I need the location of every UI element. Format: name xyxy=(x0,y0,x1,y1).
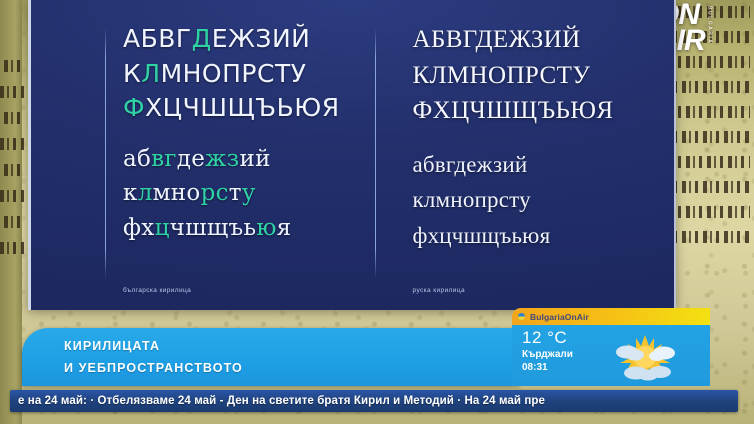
lower-third-banner: КИРИЛИЦАТА И УЕБПРОСТРАНСТВОТО xyxy=(22,328,520,386)
lower-third-line-2: И УЕБПРОСТРАНСТВОТО xyxy=(64,358,520,380)
bulgarian-lowercase-block: абвгдежзий клмнорсту фхцчшщъьюя xyxy=(123,142,385,247)
russian-uppercase-line-1: АБВГДЕЖЗИЙ xyxy=(413,22,675,58)
weather-widget: BulgariaOnAir 12 °C Кърджали 08:31 xyxy=(512,308,710,386)
on-air-vertical-label: BULGARIA xyxy=(707,6,713,44)
alphabet-graphic-panel: АБВГДЕЖЗИЙ КЛМНОПРСТУ ФХЦЧШЩЪЬЮЯ абвгдеж… xyxy=(28,0,676,310)
bulgarian-uppercase-line-1: АБВГДЕЖЗИЙ xyxy=(123,22,385,57)
bulgarian-uppercase-line-3: ФХЦЧШЩЪЬЮЯ xyxy=(123,91,385,126)
bulgarian-lowercase-line-1: абвгдежзий xyxy=(123,142,385,177)
broadcast-frame: ON AIR BULGARIA АБВГДЕЖЗИЙ КЛМНОПРСТУ ФХ… xyxy=(0,0,754,424)
russian-column-caption: руска кирилица xyxy=(413,287,465,294)
russian-lowercase-line-3: фхцчшщъьюя xyxy=(413,218,675,254)
russian-lowercase-block: абвгдежзий клмнопрсту фхцчшщъьюя xyxy=(413,147,675,254)
manuscript-script-left xyxy=(0,60,24,310)
russian-uppercase-line-2: КЛМНОПРСТУ xyxy=(413,58,675,94)
weather-body: 12 °C Кърджали 08:31 xyxy=(512,325,710,386)
sun-behind-cloud-icon xyxy=(614,333,676,381)
russian-uppercase-block: АБВГДЕЖЗИЙ КЛМНОПРСТУ ФХЦЧШЩЪЬЮЯ xyxy=(413,22,675,129)
bulgarian-lowercase-line-3: фхцчшщъьюя xyxy=(123,211,385,246)
bulgarian-column-caption: българска кирилица xyxy=(123,287,191,294)
news-ticker: е на 24 май: · Отбелязваме 24 май - Ден … xyxy=(10,390,738,412)
news-ticker-text: е на 24 май: · Отбелязваме 24 май - Ден … xyxy=(18,395,545,407)
bulgarian-lowercase-line-2: клмнорсту xyxy=(123,176,385,211)
russian-uppercase-line-3: ФХЦЧШЩЪЬЮЯ xyxy=(413,93,675,129)
bulgarian-cyrillic-column: АБВГДЕЖЗИЙ КЛМНОПРСТУ ФХЦЧШЩЪЬЮЯ абвгдеж… xyxy=(31,0,385,310)
channel-logo-mark-icon xyxy=(518,313,525,320)
channel-brand-label: BulgariaOnAir xyxy=(530,312,589,322)
bulgarian-uppercase-line-2: КЛМНОПРСТУ xyxy=(123,57,385,92)
lower-third-line-1: КИРИЛИЦАТА xyxy=(64,336,520,358)
bulgarian-uppercase-block: АБВГДЕЖЗИЙ КЛМНОПРСТУ ФХЦЧШЩЪЬЮЯ xyxy=(123,22,385,126)
russian-lowercase-line-2: клмнопрсту xyxy=(413,182,675,218)
russian-cyrillic-column: АБВГДЕЖЗИЙ КЛМНОПРСТУ ФХЦЧШЩЪЬЮЯ абвгдеж… xyxy=(385,0,675,310)
russian-lowercase-line-1: абвгдежзий xyxy=(413,147,675,183)
weather-brand-bar: BulgariaOnAir xyxy=(512,308,710,325)
